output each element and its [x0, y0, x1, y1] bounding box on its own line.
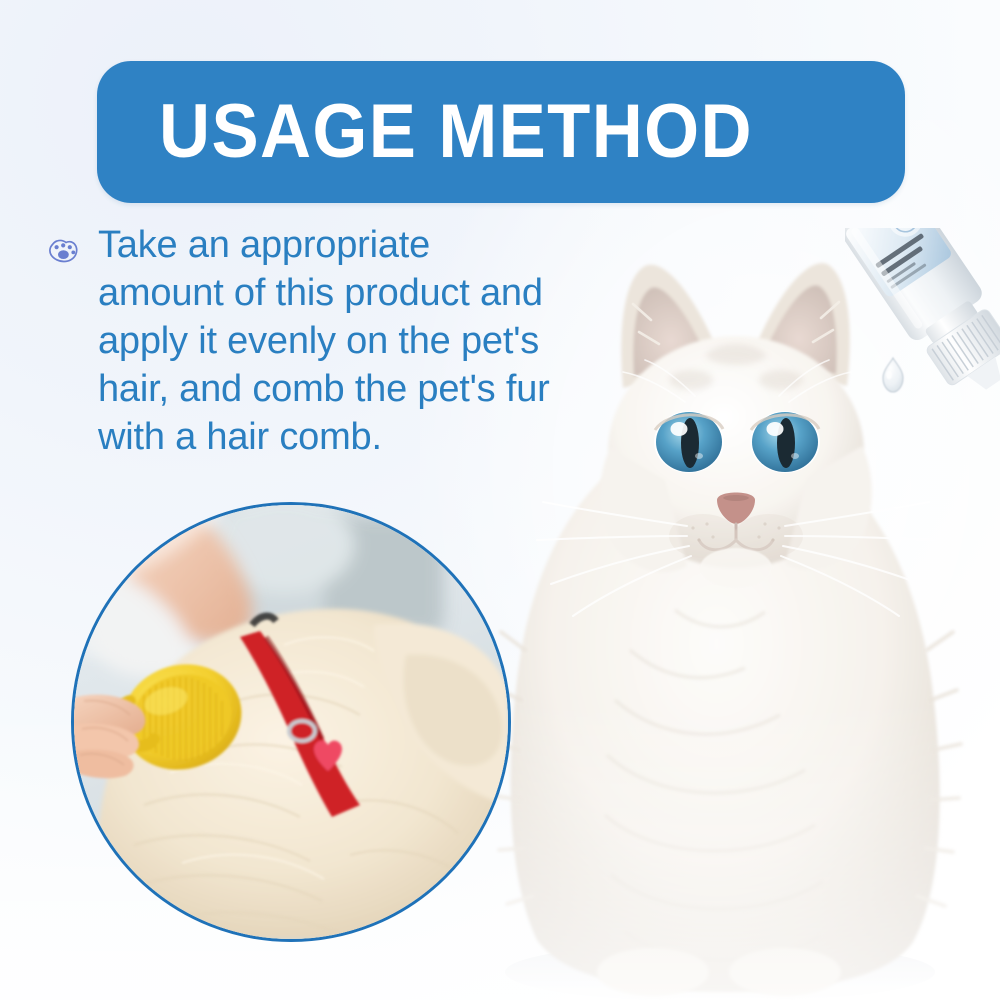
cat-eye-left — [654, 411, 724, 473]
usage-method-banner: USAGE METHOD — [97, 61, 905, 203]
grooming-demo-photo — [71, 502, 511, 942]
paw-print-icon — [44, 230, 82, 268]
instruction-text: Take an appropriate amount of this produ… — [98, 222, 564, 461]
cat-eye-right — [750, 411, 820, 473]
page-title: USAGE METHOD — [159, 94, 753, 170]
product-bottle — [845, 228, 1000, 443]
liquid-droplet-icon — [883, 358, 903, 392]
instruction-block: Take an appropriate amount of this produ… — [44, 222, 564, 461]
usage-method-poster: USAGE METHOD Take an appropriate amount … — [0, 0, 1000, 1000]
